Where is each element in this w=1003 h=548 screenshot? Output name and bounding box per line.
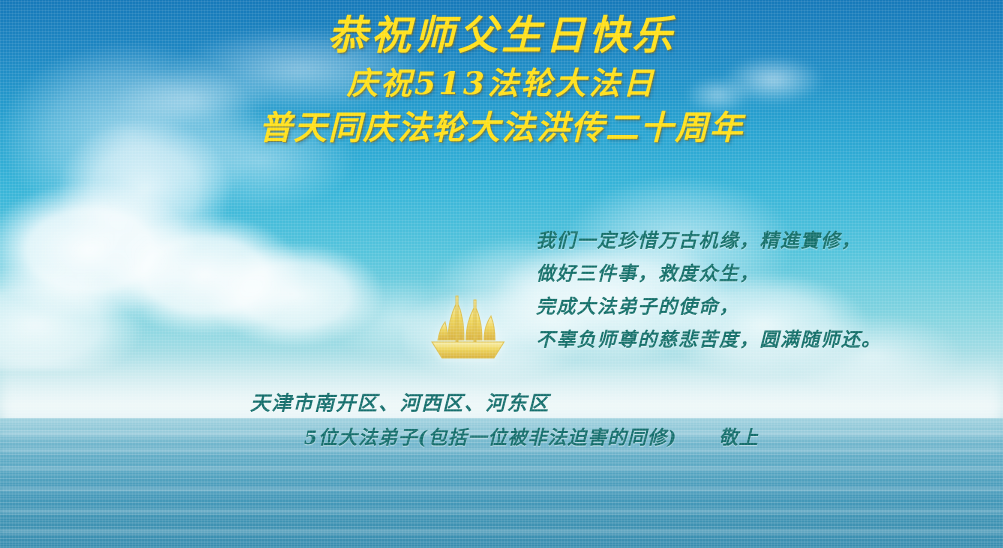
headline-line-2: 庆祝513法轮大法日: [0, 69, 1003, 100]
verse-line-2: 做好三件事，救度众生，: [536, 258, 882, 291]
verse-line-3: 完成大法弟子的使命，: [536, 291, 882, 324]
headline-block: 恭祝师父生日快乐 庆祝513法轮大法日 普天同庆法轮大法洪传二十周年: [0, 16, 1003, 144]
headline-line-3: 普天同庆法轮大法洪传二十周年: [0, 111, 1003, 144]
wave-line: [0, 467, 1003, 470]
golden-sailing-ship-icon: [424, 280, 512, 368]
signature-origin: 天津市南开区、河西区、河东区: [250, 388, 759, 418]
greeting-card: 恭祝师父生日快乐 庆祝513法轮大法日 普天同庆法轮大法洪传二十周年 我们一定珍…: [0, 0, 1003, 548]
verse-line-4: 不辜负师尊的慈悲苦度，圆满随师还。: [536, 324, 882, 357]
headline-line-1: 恭祝师父生日快乐: [0, 16, 1003, 56]
wave-line: [0, 488, 1003, 491]
signature-block: 天津市南开区、河西区、河东区 5位大法弟子(包括一位被非法迫害的同修) 敬上: [250, 388, 759, 453]
wave-line: [0, 530, 1003, 533]
signature-senders: 5位大法弟子(包括一位被非法迫害的同修): [304, 427, 677, 449]
verse-block: 我们一定珍惜万古机缘，精進實修， 做好三件事，救度众生， 完成大法弟子的使命， …: [536, 225, 882, 357]
signature-closing: 敬上: [719, 427, 759, 449]
signature-senders-row: 5位大法弟子(包括一位被非法迫害的同修) 敬上: [304, 423, 759, 453]
verse-line-1: 我们一定珍惜万古机缘，精進實修，: [536, 225, 882, 258]
wave-line: [0, 510, 1003, 513]
